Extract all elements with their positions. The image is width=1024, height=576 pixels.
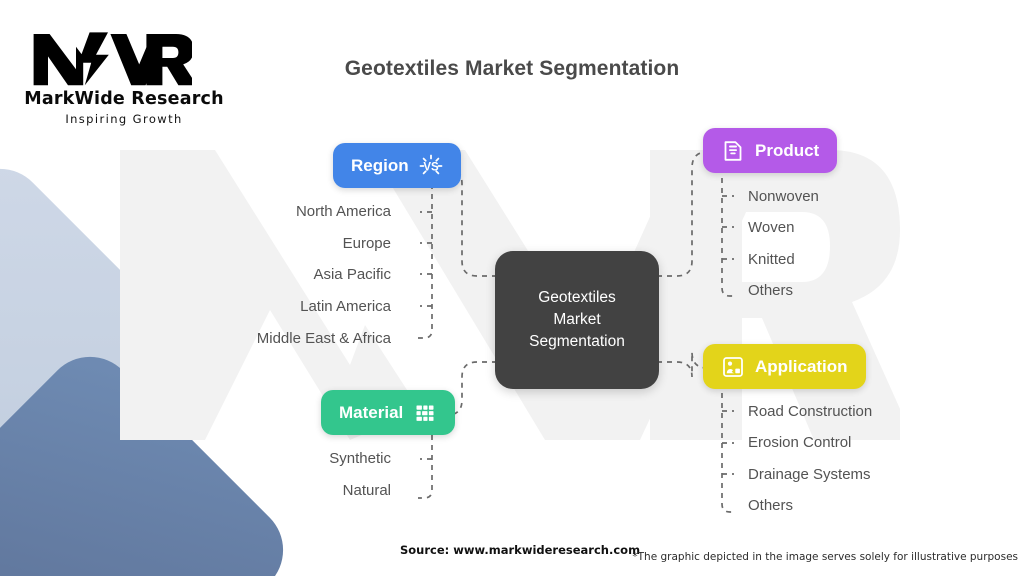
leaf-product-3: Others: [748, 283, 793, 298]
leaf-region-1: Europe: [343, 236, 391, 251]
infographic-canvas: MarkWide Research Inspiring Growth Geote…: [0, 0, 1024, 576]
leaf-region-3: Latin America: [300, 299, 391, 314]
leaf-region-4: Middle East & Africa: [257, 331, 391, 346]
branch-badge-product[interactable]: Product: [703, 128, 837, 173]
branch-badge-application[interactable]: Application: [703, 344, 866, 389]
leaf-application-0: Road Construction: [748, 404, 872, 419]
branch-label-material: Material: [339, 403, 403, 423]
machine-worker-icon: [721, 355, 745, 379]
document-product-icon: [721, 139, 745, 163]
leaf-region-2: Asia Pacific: [313, 267, 391, 282]
svg-text:VS: VS: [423, 161, 439, 173]
leaf-application-1: Erosion Control: [748, 435, 851, 450]
leaf-application-2: Drainage Systems: [748, 467, 871, 482]
branch-badge-region[interactable]: Region VS: [333, 143, 461, 188]
branch-label-application: Application: [755, 357, 848, 377]
leaf-product-2: Knitted: [748, 252, 795, 267]
leaf-product-0: Nonwoven: [748, 189, 819, 204]
leaf-material-0: Synthetic: [329, 451, 391, 466]
leaf-material-1: Natural: [343, 483, 391, 498]
brick-grid-icon: [413, 401, 437, 425]
center-node: Geotextiles Market Segmentation: [495, 251, 659, 389]
leaf-product-1: Woven: [748, 220, 794, 235]
globe-pin-icon: VS: [419, 154, 443, 178]
branch-label-region: Region: [351, 156, 409, 176]
leaf-region-0: North America: [296, 204, 391, 219]
center-node-label: Geotextiles Market Segmentation: [529, 287, 625, 353]
leaf-application-3: Others: [748, 498, 793, 513]
branch-label-product: Product: [755, 141, 819, 161]
branch-badge-material[interactable]: Material: [321, 390, 455, 435]
source-text: Source: www.markwideresearch.com: [400, 543, 640, 557]
disclaimer-text: *The graphic depicted in the image serve…: [632, 551, 1018, 563]
